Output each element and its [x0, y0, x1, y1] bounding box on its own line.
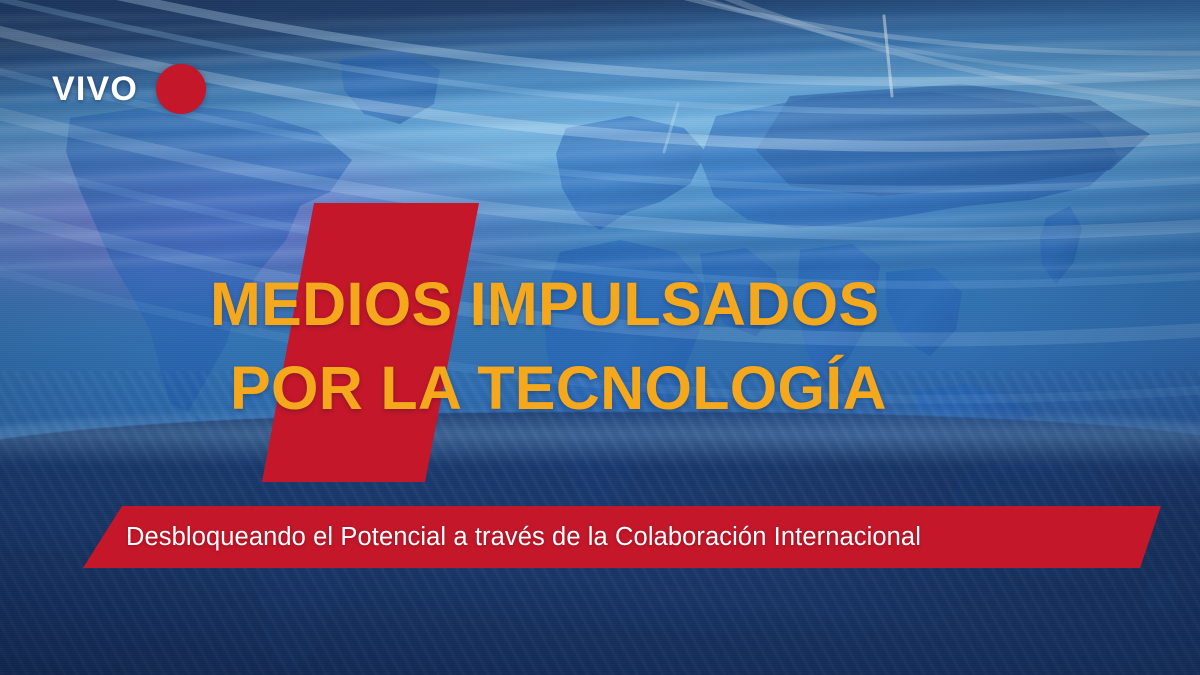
- live-label: VIVO: [52, 72, 138, 106]
- headline-line-1: MEDIOS IMPULSADOS: [210, 270, 879, 338]
- live-dot-icon: [156, 64, 206, 114]
- subtitle-text: Desbloqueando el Potencial a través de l…: [0, 506, 1200, 568]
- live-badge: VIVO: [52, 64, 206, 114]
- page-title: MEDIOS IMPULSADOS POR LA TECNOLOGÍA: [210, 262, 887, 430]
- headline-line-2: POR LA TECNOLOGÍA: [210, 346, 887, 430]
- broadcast-title-card: VIVO MEDIOS IMPULSADOS POR LA TECNOLOGÍA…: [0, 0, 1200, 675]
